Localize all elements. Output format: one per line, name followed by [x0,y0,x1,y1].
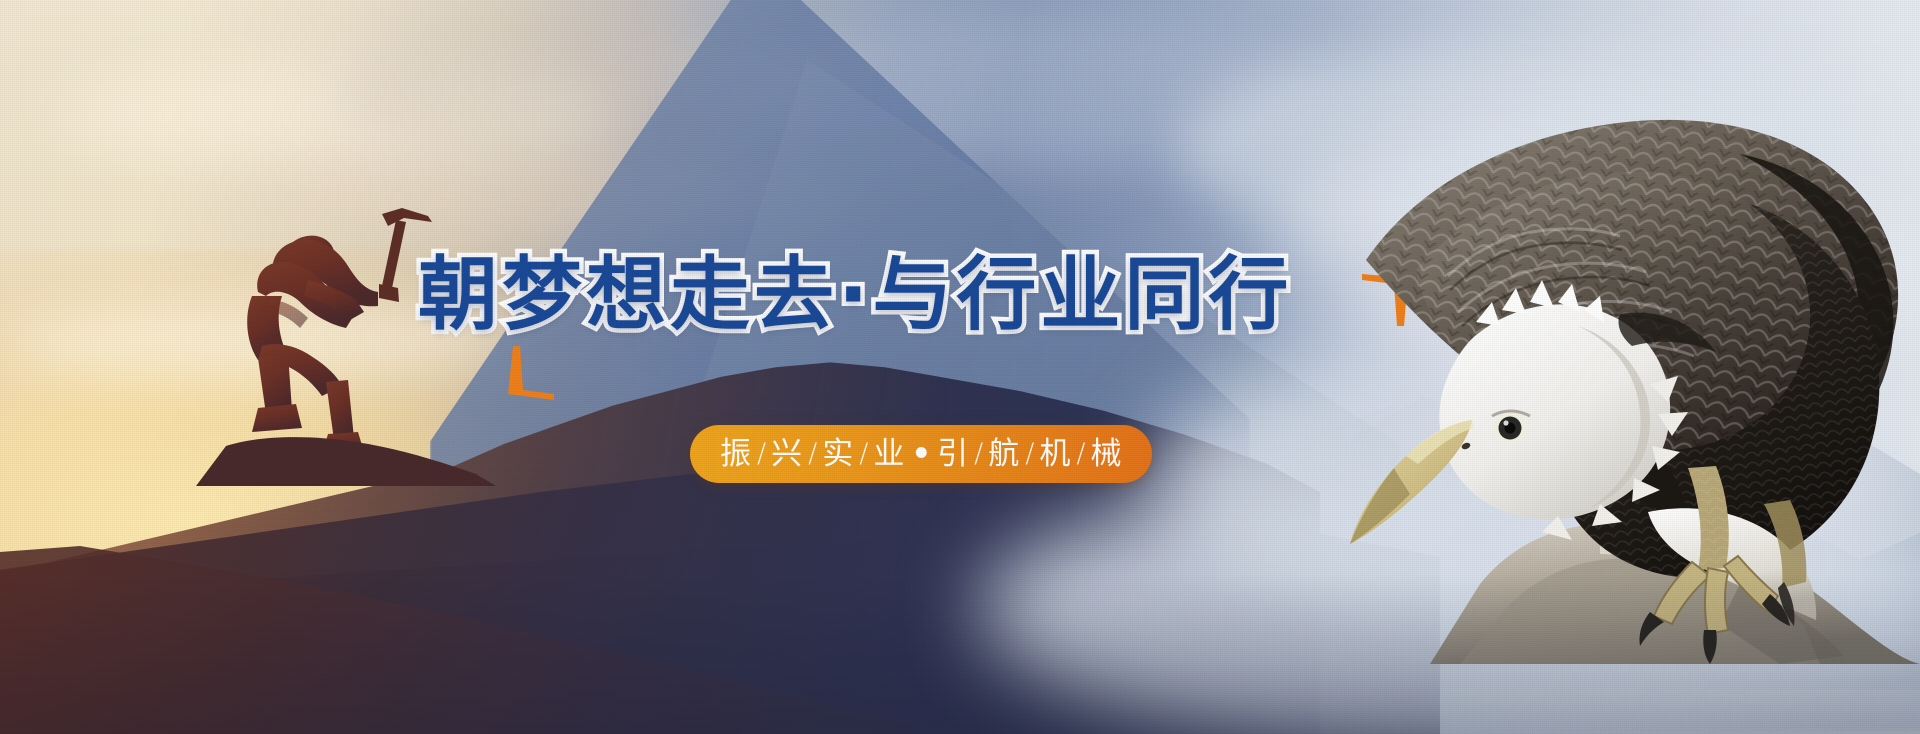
corner-accent-left-icon [496,344,558,406]
badge-char: 实 [822,439,854,470]
badge-char: 业 [873,439,905,470]
badge-separator: / [1020,440,1039,467]
badge-middot: • [905,439,937,470]
badge-separator: / [1071,440,1090,467]
page-title: 朝梦想走去·与行业同行 [418,236,1158,340]
badge-char: 械 [1090,439,1122,470]
eagle-beak [1350,420,1474,544]
badge-separator: / [969,440,988,467]
badge-char: 振 [720,439,752,470]
badge-separator: / [803,440,822,467]
badge-char: 机 [1039,439,1071,470]
badge-char: 兴 [771,439,803,470]
badge-separator: / [854,440,873,467]
badge-char: 引 [937,439,969,470]
hero-banner: 朝梦想走去·与行业同行 振 / 兴 / 实 / 业 • 引 / 航 / 机 / … [0,0,1920,734]
bald-eagle-illustration [1180,64,1920,664]
badge-char: 航 [988,439,1020,470]
badge-separator: / [752,440,771,467]
status-badge: 振 / 兴 / 实 / 业 • 引 / 航 / 机 / 械 [690,425,1152,483]
